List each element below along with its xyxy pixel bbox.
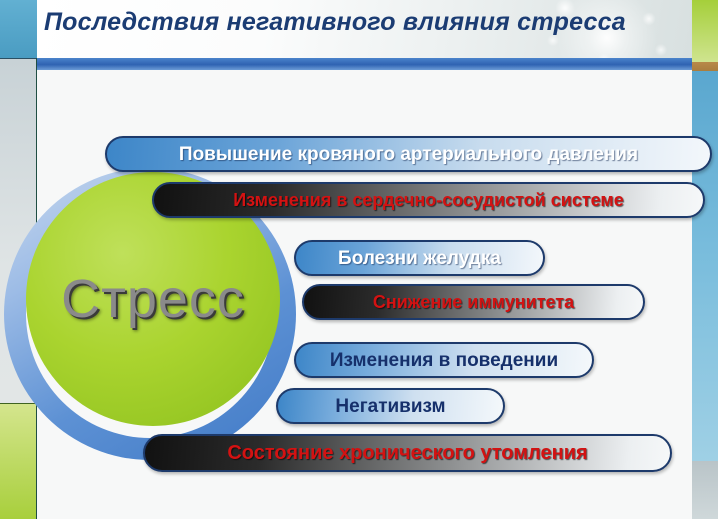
consequence-badge[interactable]: Снижение иммунитета (302, 284, 645, 320)
right-accent-gray-block (692, 461, 718, 519)
consequence-badge-label: Снижение иммунитета (373, 293, 574, 311)
consequence-badge[interactable]: Изменения в поведении (294, 342, 594, 378)
consequence-badge-label: Повышение кровяного артериального давлен… (179, 145, 638, 164)
page-title: Последствия негативного влияния стресса (44, 8, 716, 37)
consequence-badge[interactable]: Изменения в сердечно-сосудистой системе (152, 182, 705, 218)
consequence-badge[interactable]: Состояние хронического утомления (143, 434, 672, 472)
right-accent-blue-strip (692, 71, 718, 461)
consequence-badge-label: Изменения в поведении (330, 351, 558, 370)
consequence-badge-label: Изменения в сердечно-сосудистой системе (233, 191, 624, 209)
consequence-badge-label: Состояние хронического утомления (227, 443, 587, 463)
left-accent-green-block (0, 403, 37, 519)
consequence-badge[interactable]: Негативизм (276, 388, 505, 424)
top-right-tan-bar (692, 62, 718, 71)
slide-canvas: Последствия негативного влияния стресса … (0, 0, 718, 519)
left-accent-teal-block (0, 0, 37, 58)
header-underline-bar (37, 58, 692, 70)
consequence-badge[interactable]: Повышение кровяного артериального давлен… (105, 136, 712, 172)
consequence-badge[interactable]: Болезни желудка (294, 240, 545, 276)
consequence-badge-label: Негативизм (335, 397, 445, 416)
stress-center-label: Стресс (61, 268, 245, 330)
consequence-badge-label: Болезни желудка (338, 249, 501, 268)
